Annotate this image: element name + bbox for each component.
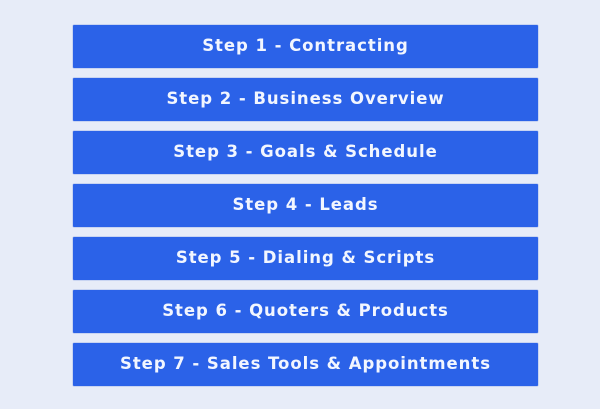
step-item-3[interactable]: Step 3 - Goals & Schedule [73, 131, 538, 174]
step-item-label: Step 4 - Leads [232, 197, 378, 214]
step-item-7[interactable]: Step 7 - Sales Tools & Appointments [73, 343, 538, 386]
step-item-label: Step 3 - Goals & Schedule [173, 144, 437, 161]
step-item-label: Step 1 - Contracting [202, 38, 409, 55]
step-item-4[interactable]: Step 4 - Leads [73, 184, 538, 227]
step-item-label: Step 7 - Sales Tools & Appointments [120, 356, 491, 373]
step-item-label: Step 6 - Quoters & Products [162, 303, 449, 320]
step-item-6[interactable]: Step 6 - Quoters & Products [73, 290, 538, 333]
step-item-label: Step 5 - Dialing & Scripts [176, 250, 435, 267]
step-item-1[interactable]: Step 1 - Contracting [73, 25, 538, 68]
step-list: Step 1 - Contracting Step 2 - Business O… [73, 25, 538, 386]
step-item-label: Step 2 - Business Overview [166, 91, 444, 108]
step-item-2[interactable]: Step 2 - Business Overview [73, 78, 538, 121]
step-item-5[interactable]: Step 5 - Dialing & Scripts [73, 237, 538, 280]
